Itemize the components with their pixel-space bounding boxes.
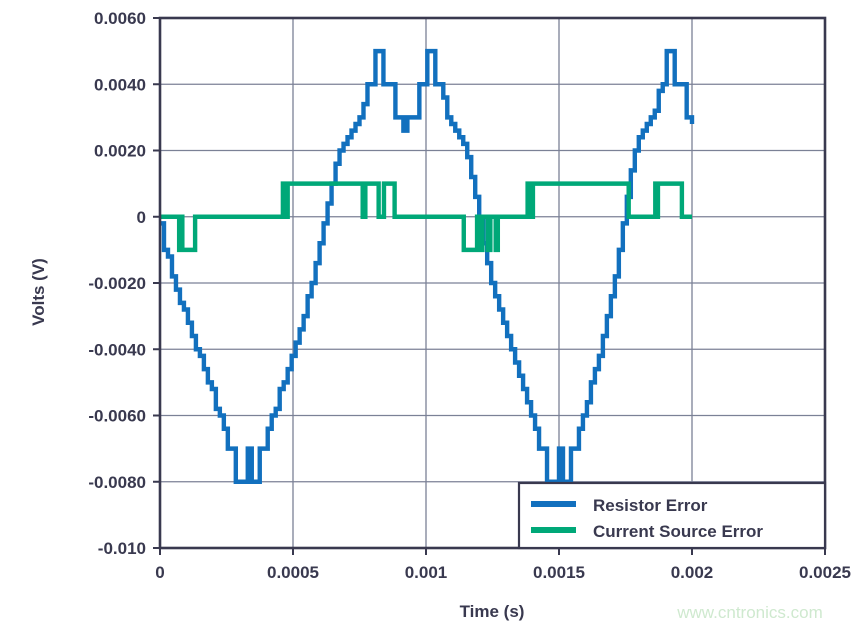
legend-label-current-source-error: Current Source Error bbox=[593, 522, 763, 541]
y-tick-label: -0.0040 bbox=[88, 340, 146, 359]
y-tick-label: -0.0020 bbox=[88, 274, 146, 293]
y-axis-title: Volts (V) bbox=[29, 258, 48, 326]
watermark-text: www.cntronics.com bbox=[676, 603, 822, 622]
y-tick-label: 0.0020 bbox=[94, 142, 146, 161]
x-tick-label: 0.0015 bbox=[533, 563, 585, 582]
y-tick-label: 0 bbox=[137, 208, 146, 227]
chart-figure: 0.00600.00400.00200-0.0020-0.0040-0.0060… bbox=[0, 0, 861, 633]
y-tick-label: -0.0060 bbox=[88, 407, 146, 426]
y-axis-tick-labels: 0.00600.00400.00200-0.0020-0.0040-0.0060… bbox=[88, 9, 146, 558]
x-tick-label: 0.0005 bbox=[267, 563, 319, 582]
legend: Resistor Error Current Source Error bbox=[519, 483, 825, 548]
x-axis-title: Time (s) bbox=[460, 602, 525, 621]
legend-label-resistor-error: Resistor Error bbox=[593, 496, 708, 515]
y-tick-label: 0.0060 bbox=[94, 9, 146, 28]
y-tick-label: -0.010 bbox=[98, 539, 146, 558]
x-tick-label: 0.001 bbox=[405, 563, 448, 582]
x-tick-label: 0.0025 bbox=[799, 563, 851, 582]
y-tick-label: 0.0040 bbox=[94, 75, 146, 94]
x-tick-label: 0.002 bbox=[671, 563, 714, 582]
x-tick-label: 0 bbox=[155, 563, 164, 582]
y-tick-label: -0.0080 bbox=[88, 473, 146, 492]
